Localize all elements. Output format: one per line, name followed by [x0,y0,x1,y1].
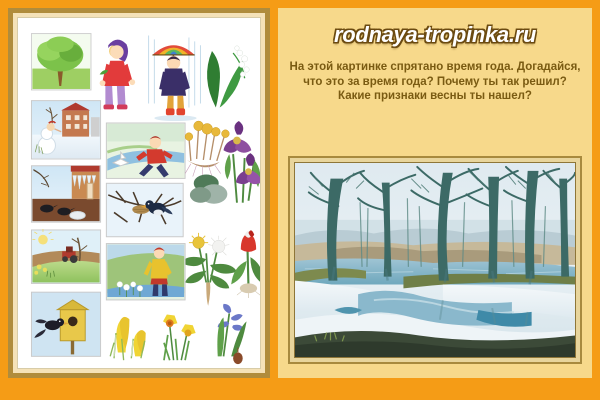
site-title: rodnaya-tropinka.ru [278,22,592,48]
collage-item-green-leafy-tree [31,34,91,90]
spring-thaw-painting [294,162,576,358]
collage-item-icicles-rooks [31,166,100,222]
poster-root: rodnaya-tropinka.ru На этой картинке спр… [0,0,600,400]
collage-item-birdhouse-starling [31,292,100,356]
collage-artwork [18,18,260,368]
collage-item-snowman-winter-house [31,101,100,159]
prompt-text: На этой картинке спрятано время года. До… [286,60,584,104]
collage-item-child-snowdrops-meadow [106,244,185,300]
collage-panel [17,17,261,369]
collage-item-bird-on-branch-nest [106,183,183,236]
painting-frame [288,156,582,364]
collage-item-boy-jumping-stream [106,123,185,178]
collage-item-spring-field-tractor [31,229,100,283]
painting-artwork [295,163,575,357]
right-panel: rodnaya-tropinka.ru На этой картинке спр… [278,8,592,378]
collage-frame [8,8,270,378]
